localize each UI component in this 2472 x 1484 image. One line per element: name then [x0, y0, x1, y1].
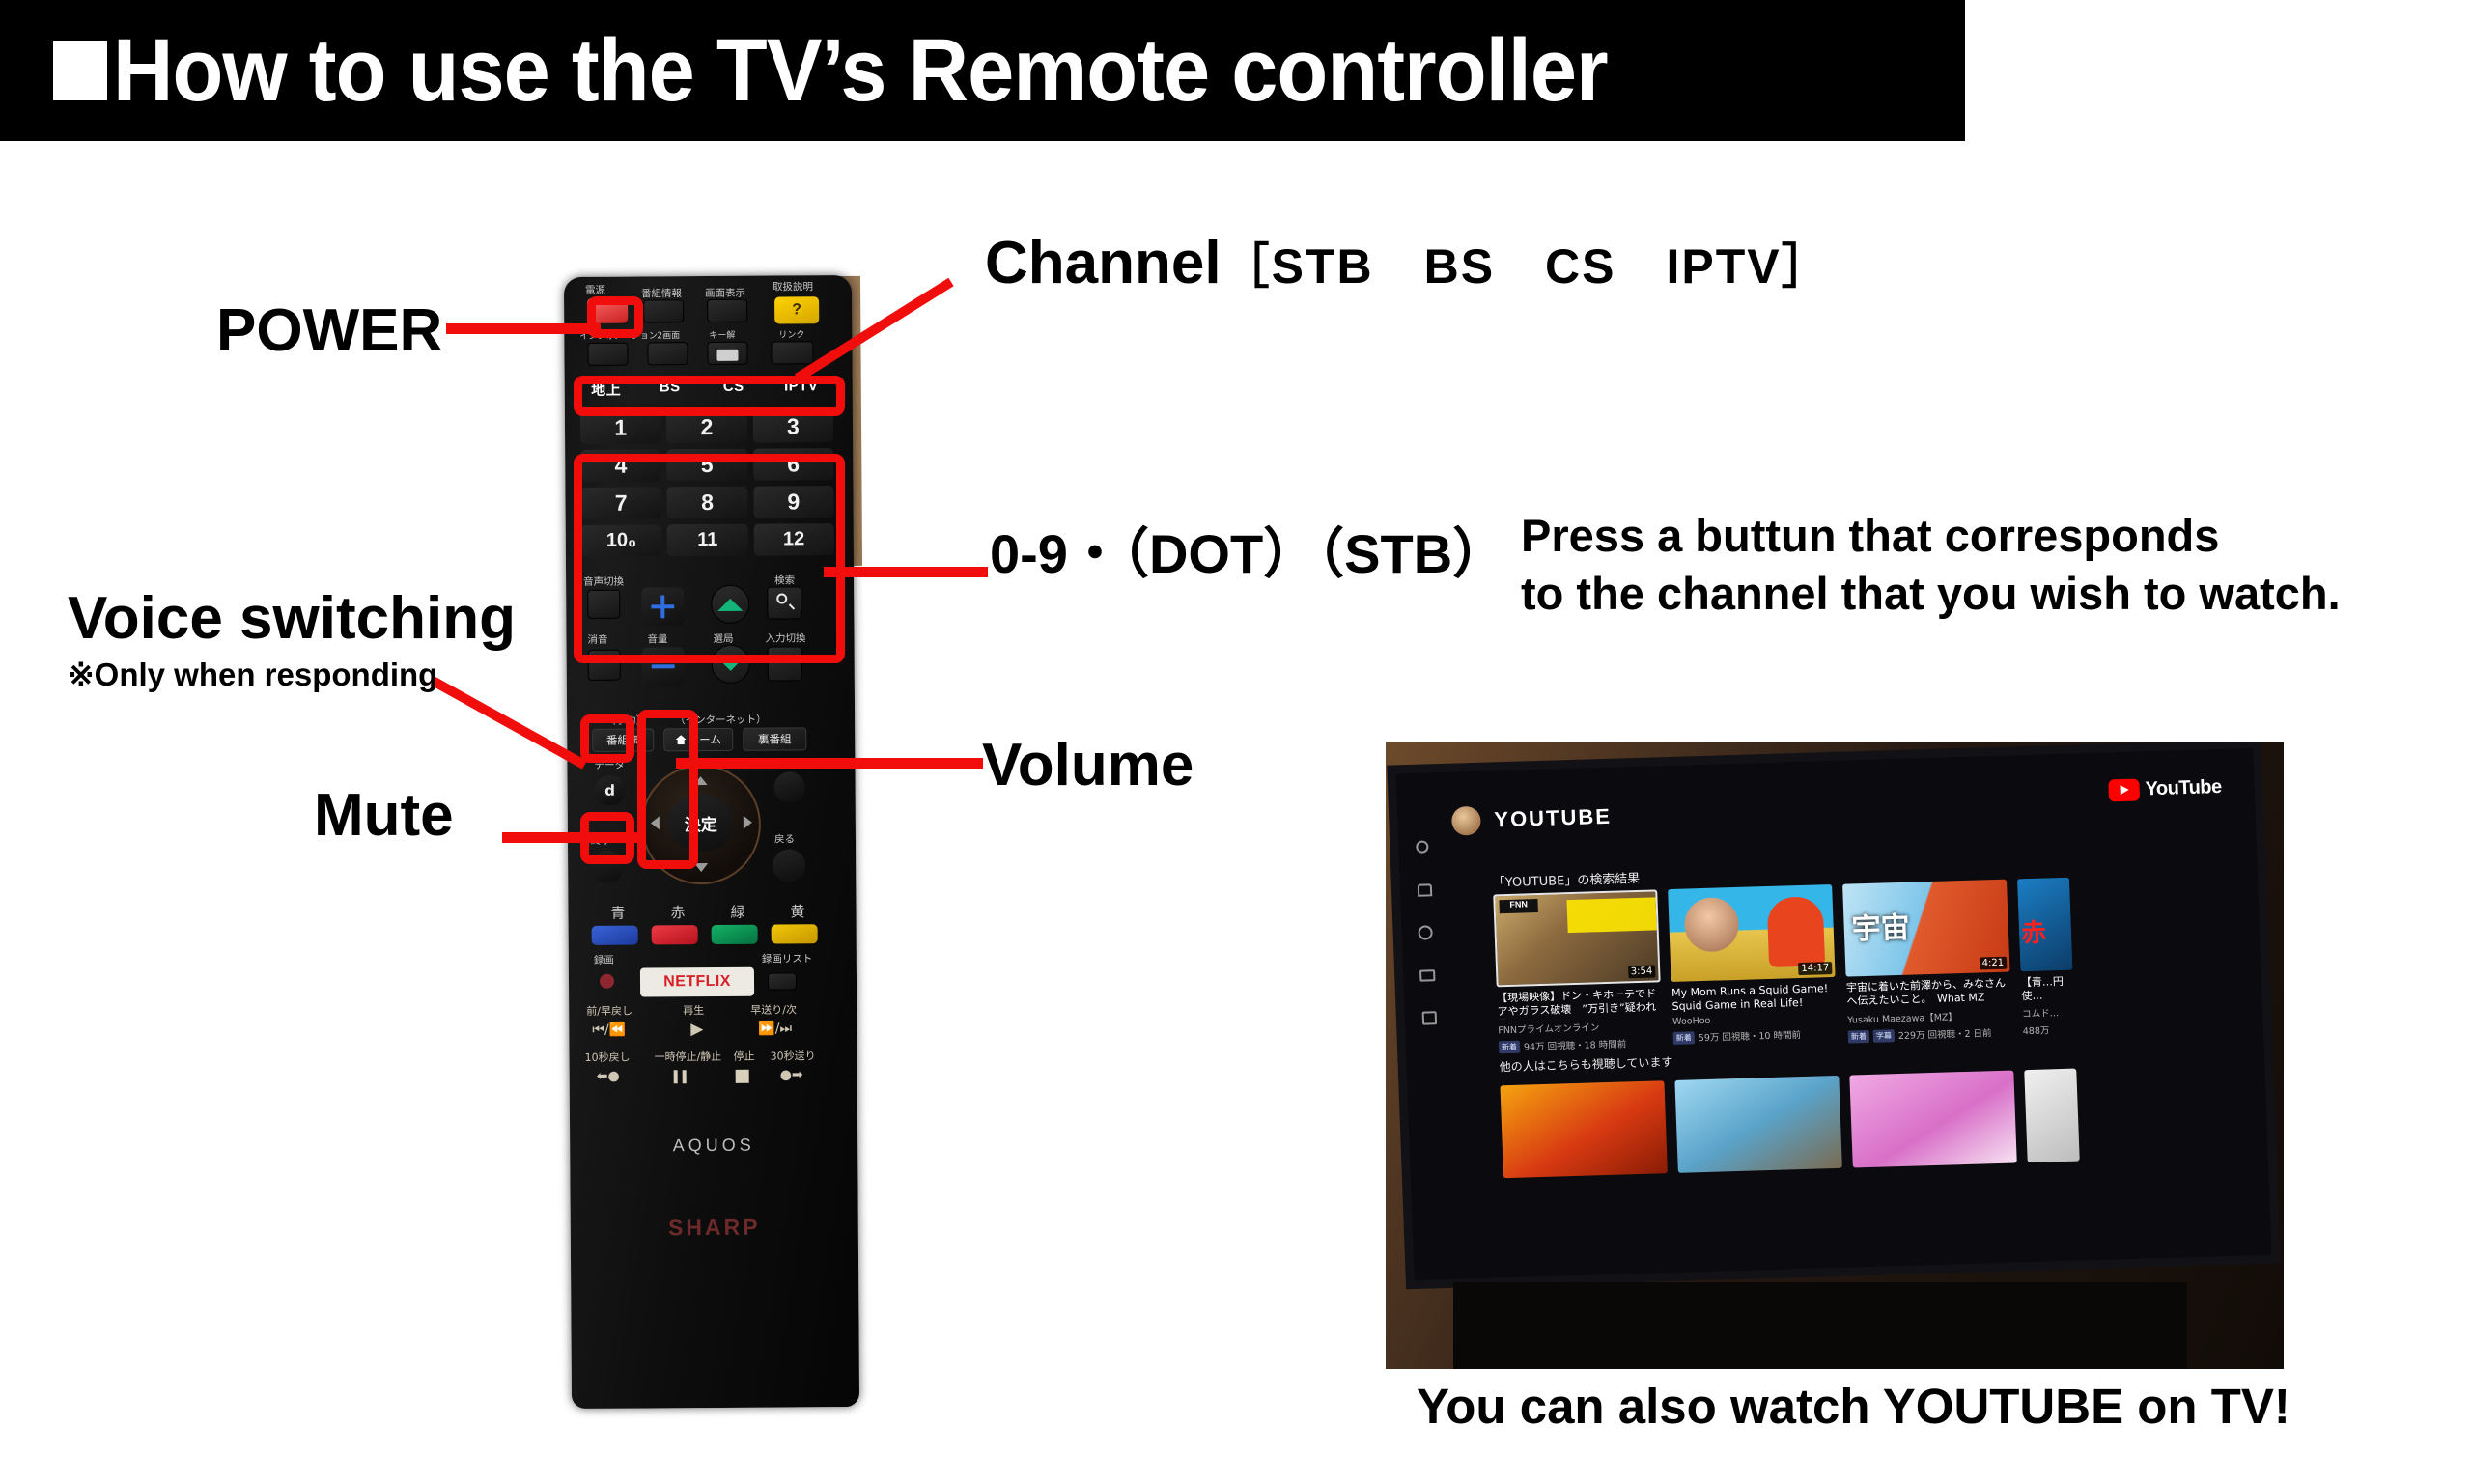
explore-icon[interactable]	[1417, 923, 1437, 943]
remote-label-link: リンク	[778, 327, 804, 340]
highlight-number-pad	[574, 454, 845, 663]
connector-volume	[676, 758, 983, 769]
youtube-section-label: 他の人はこちらも視聴しています	[1499, 1053, 1672, 1075]
youtube-recommended-row[interactable]	[1500, 1069, 2079, 1179]
youtube-logo: YouTube	[2108, 776, 2222, 801]
minus-icon	[652, 664, 675, 668]
keyboard-icon	[716, 350, 738, 361]
tv-screen: YOUTUBE YouTube 「YOUTUBE」の検索結果 FNN 3:54 …	[1396, 748, 2272, 1280]
remote-label-back10: 10秒戻し	[584, 1050, 630, 1065]
video-title: 宇宙に着いた前澤から、みなさんへ伝えたいこと。 What MZ Wants…	[1846, 977, 2011, 1009]
library-icon[interactable]	[1420, 1008, 1441, 1028]
recommended-thumbnail[interactable]	[2024, 1069, 2079, 1163]
link-button[interactable]	[771, 341, 813, 364]
two-screen-button[interactable]	[647, 342, 688, 365]
thumbnail-figure	[1767, 896, 1826, 967]
highlight-volume-buttons	[637, 710, 698, 869]
callout-voice-switching-note: ※Only when responding	[68, 658, 437, 692]
black-square-bullet-icon	[53, 41, 107, 100]
data-button[interactable]: d	[595, 775, 626, 806]
prev-rewind-icon[interactable]: ⏮/⏪	[592, 1022, 626, 1038]
video-meta: 新着 字幕 229万 回視聴・2 日前	[1848, 1025, 2012, 1044]
video-meta: 新着 59万 回視聴・10 時間前	[1673, 1026, 1838, 1045]
video-duration: 4:21	[1979, 957, 2007, 970]
recommended-thumbnail[interactable]	[1674, 1076, 1841, 1173]
video-card[interactable]: 赤 【青…円使… コムド… 488万	[2017, 878, 2075, 1038]
video-badge: 新着	[1848, 1029, 1869, 1043]
program-info-button[interactable]	[643, 299, 684, 322]
video-thumbnail[interactable]: 宇宙 4:21	[1842, 880, 2009, 977]
thumbnail-overlay-text: 宇宙	[1851, 904, 1911, 948]
connector-power	[446, 323, 601, 334]
video-meta: 新着 94万 回視聴・18 時間前	[1499, 1035, 1663, 1053]
remote-label-stop: 停止	[733, 1049, 754, 1064]
record-list-button[interactable]	[768, 972, 797, 990]
home-icon[interactable]	[1416, 881, 1436, 901]
youtube-play-icon	[2108, 779, 2140, 802]
fastforward-next-icon[interactable]: ⏩/⏭	[758, 1021, 792, 1036]
highlight-voice-switch-button	[580, 714, 634, 763]
connector-numpad	[824, 567, 988, 577]
recommended-thumbnail[interactable]	[1500, 1080, 1667, 1178]
video-thumbnail[interactable]: FNN 3:54	[1493, 889, 1660, 987]
yellow-button[interactable]	[772, 924, 818, 943]
tv-photo: YOUTUBE YouTube 「YOUTUBE」の検索結果 FNN 3:54 …	[1386, 742, 2284, 1369]
callout-channel: Channel［STB BS CS IPTV］	[985, 232, 1832, 294]
video-title: 【青…円使…	[2021, 975, 2074, 1003]
video-title: 【現場映像】ドン・キホーテでドアやガラス破壊 ”万引き”疑われ激…	[1497, 987, 1662, 1019]
callout-channel-label: Channel	[985, 230, 1222, 296]
thumbnail-channel-tag: FNN	[1499, 899, 1537, 913]
video-views: 94万 回視聴・18 時間前	[1524, 1036, 1627, 1052]
youtube-app-title: YOUTUBE	[1494, 804, 1612, 833]
recommended-thumbnail[interactable]	[1849, 1070, 2016, 1167]
remote-label-display: 画面表示	[705, 286, 745, 300]
remote-label-power: 電源	[585, 283, 605, 297]
tv-stand	[1453, 1282, 2187, 1369]
thumbnail-caption-band	[1566, 897, 1656, 933]
remote-label-key: キー解	[709, 328, 735, 341]
page-title-banner: How to use the TV’s Remote controller	[0, 0, 1965, 141]
callout-voice-switching-label: Voice switching	[68, 587, 516, 650]
remote-label-play: 再生	[683, 1002, 704, 1018]
infographic-page: How to use the TV’s Remote controller 電源…	[0, 0, 2472, 1484]
video-views: 488万	[2022, 1022, 2074, 1038]
video-card[interactable]: FNN 3:54 【現場映像】ドン・キホーテでドアやガラス破壊 ”万引き”疑われ…	[1493, 889, 1663, 1053]
youtube-search-result-label: 「YOUTUBE」の検索結果	[1492, 868, 1640, 891]
aquos-brand-logo: AQUOS	[570, 1134, 857, 1157]
video-badge-subtitle: 字幕	[1873, 1029, 1895, 1043]
callout-instruction-line2: to the channel that you wish to watch.	[1521, 565, 2341, 623]
remote-label-record: 録画	[594, 953, 614, 967]
callout-power-label: POWER	[216, 299, 442, 362]
connector-mute	[502, 832, 637, 843]
skip-forward-30s-icon[interactable]: ●➡	[780, 1067, 803, 1082]
callout-instruction: Press a buttun that corresponds to the c…	[1521, 507, 2341, 623]
video-thumbnail[interactable]: 赤	[2017, 878, 2072, 972]
callout-instruction-line1: Press a buttun that corresponds	[1521, 507, 2341, 565]
remote-label-ff-next: 早送り/次	[750, 1001, 797, 1017]
remote-label-two-screen: 2画面	[657, 328, 680, 341]
video-card[interactable]: 宇宙 4:21 宇宙に着いた前澤から、みなさんへ伝えたいこと。 What MZ …	[1842, 880, 2012, 1044]
video-channel: コムド…	[2022, 1005, 2074, 1021]
information-button[interactable]	[587, 343, 628, 366]
numkey-1[interactable]: 1	[580, 411, 661, 444]
callout-numpad-label: 0-9・（DOT）（STB）	[990, 526, 1506, 583]
search-icon[interactable]	[1414, 838, 1434, 858]
play-icon[interactable]: ▶	[690, 1020, 703, 1039]
green-button[interactable]	[712, 925, 758, 944]
video-views: 59万 回視聴・10 時間前	[1699, 1027, 1802, 1044]
remote-label-fwd30: 30秒送り	[770, 1048, 815, 1063]
avatar[interactable]	[1451, 806, 1481, 836]
thumbnail-subject	[1684, 897, 1740, 953]
youtube-logo-text: YouTube	[2145, 776, 2222, 800]
remote-label-proginfo: 番組情報	[641, 286, 682, 300]
blue-button[interactable]	[592, 926, 638, 945]
video-duration: 3:54	[1628, 965, 1656, 978]
remote-label-prev-rew: 前/早戻し	[586, 1003, 632, 1019]
pause-icon-bar-right[interactable]	[683, 1070, 687, 1083]
callout-channel-sources: ［STB BS CS IPTV］	[1222, 239, 1832, 294]
screen-display-button[interactable]	[707, 299, 747, 322]
tool-button[interactable]	[773, 771, 804, 802]
dpad-right-icon[interactable]	[744, 816, 752, 829]
thumbnail-overlay-text: 赤	[2020, 912, 2046, 949]
connector-voice-switch	[431, 677, 587, 770]
video-badge: 新着	[1499, 1040, 1520, 1053]
red-button[interactable]	[652, 925, 698, 944]
pause-icon-bar-left[interactable]	[674, 1070, 678, 1083]
color-label-green: 緑	[730, 902, 744, 922]
video-card[interactable]: 14:17 My Mom Runs a Squid Game! Squid Ga…	[1668, 884, 1838, 1049]
remote-label-record-list: 録画リスト	[762, 951, 813, 966]
video-thumbnail[interactable]: 14:17	[1668, 884, 1835, 982]
page-title: How to use the TV’s Remote controller	[113, 26, 1608, 115]
callout-tv-caption: You can also watch YOUTUBE on TV!	[1417, 1381, 2290, 1433]
subscriptions-icon[interactable]	[1419, 966, 1439, 986]
back-button[interactable]	[772, 849, 805, 882]
remote-label-manual: 取扱説明	[772, 279, 813, 294]
skip-back-10s-icon[interactable]: ⬅●	[597, 1069, 620, 1084]
stop-icon[interactable]	[736, 1070, 749, 1083]
help-button[interactable]: ?	[774, 296, 819, 323]
youtube-results-row[interactable]: FNN 3:54 【現場映像】ドン・キホーテでドアやガラス破壊 ”万引き”疑われ…	[1493, 878, 2075, 1054]
callout-mute-label: Mute	[314, 784, 454, 847]
color-label-blue: 青	[610, 903, 625, 923]
video-views: 229万 回視聴・2 日前	[1898, 1025, 1992, 1042]
color-label-red: 赤	[670, 902, 685, 922]
video-badge: 新着	[1673, 1031, 1695, 1045]
video-duration: 14:17	[1798, 962, 1832, 975]
video-channel: WooHoo	[1672, 1012, 1837, 1027]
youtube-header: YOUTUBE	[1451, 802, 1613, 836]
remote-label-pause: 一時停止/静止	[654, 1049, 721, 1064]
video-channel: FNNプライムオンライン	[1498, 1018, 1662, 1036]
video-title: My Mom Runs a Squid Game! Squid Game in …	[1671, 982, 1837, 1013]
color-label-yellow: 黄	[790, 901, 804, 921]
netflix-button[interactable]: NETFLIX	[640, 967, 754, 997]
highlight-channel-source-row	[574, 376, 845, 416]
callout-volume-label: Volume	[982, 734, 1194, 797]
sharp-brand-logo: SHARP	[571, 1214, 858, 1242]
record-button[interactable]	[600, 974, 614, 989]
remote-label-back: 戻る	[774, 831, 795, 846]
video-channel: Yusaku Maezawa【MZ】	[1847, 1008, 2011, 1026]
other-program-button[interactable]: 裏番組	[743, 727, 806, 750]
